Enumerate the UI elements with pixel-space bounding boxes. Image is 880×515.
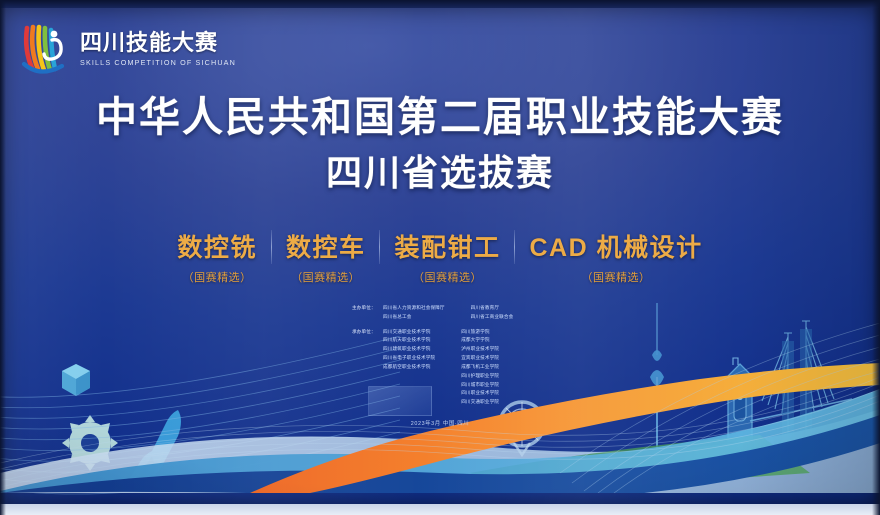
- organizer-org: 成都大学学院: [461, 336, 499, 345]
- event-name: 数控车: [286, 228, 366, 264]
- event-item: 数控车 （国赛精选）: [272, 228, 380, 285]
- event-name: CAD 机械设计: [529, 228, 702, 264]
- photo-edge-right: [872, 0, 880, 515]
- brand-name-en: SKILLS COMPETITION OF SICHUAN: [80, 59, 236, 66]
- organizer-org: 四川交通职业学院: [461, 398, 499, 407]
- organizer-org: 四川护理职业学院: [461, 372, 499, 381]
- host-org: 四川省教育厅: [471, 304, 514, 313]
- host-organizations: 主办单位： 四川省人力资源和社会保障厅 四川省总工会 四川省教育厅 四川省工商业…: [352, 304, 582, 322]
- organizer-org: 成都飞机工业学院: [461, 363, 499, 372]
- sichuan-skills-swoosh-logo-icon: [18, 20, 72, 78]
- title-line-2: 四川省选拔赛: [0, 151, 880, 194]
- organizer-org: 四川航天职业技术学院: [383, 336, 435, 345]
- title-line-1: 中华人民共和国第二届职业技能大赛: [0, 94, 880, 141]
- event-note: （国赛精选）: [183, 269, 252, 285]
- event-item: 数控铣 （国赛精选）: [163, 228, 271, 285]
- organizer-org: 四川职业技术学院: [461, 389, 499, 398]
- event-name: 装配钳工: [394, 228, 500, 264]
- event-note: （国赛精选）: [413, 269, 482, 285]
- organizer-column-2: 四川旅游学院 成都大学学院 泸州职业技术学院 宜宾职业技术学院 成都飞机工业学院…: [461, 328, 499, 407]
- organizer-org: 宜宾职业技术学院: [461, 354, 499, 363]
- event-note: （国赛精选）: [291, 269, 360, 285]
- host-org: 四川省人力资源和社会保障厅: [383, 304, 445, 313]
- organizer-org: 四川旅游学院: [461, 328, 499, 337]
- event-note: （国赛精选）: [582, 269, 651, 285]
- organizer-org: 四川省电子职业技术学院: [383, 354, 435, 363]
- event-backdrop-board: 四川技能大赛 SKILLS COMPETITION OF SICHUAN 中华人…: [0, 6, 880, 504]
- host-label: 主办单位：: [352, 304, 383, 322]
- banner-title: 中华人民共和国第二届职业技能大赛 四川省选拔赛: [0, 94, 880, 194]
- host-column-2: 四川省教育厅 四川省工商业联合会: [471, 304, 514, 322]
- organizer-org: 四川城市职业学院: [461, 381, 499, 390]
- organizer-org: 成都航空职业技术学院: [383, 363, 435, 372]
- photo-edge-top: [0, 0, 880, 8]
- organizer-org: 四川建筑职业技术学院: [383, 345, 435, 354]
- organizer-org: 泸州职业技术学院: [461, 345, 499, 354]
- host-org: 四川省总工会: [383, 313, 445, 322]
- brand-name-cn: 四川技能大赛: [80, 32, 236, 54]
- event-list: 数控铣 （国赛精选） 数控车 （国赛精选） 装配钳工 （国赛精选） CAD 机械…: [0, 228, 880, 285]
- date-location-footer: 2023年3月 中国·四川: [0, 419, 880, 427]
- blank-placard: [368, 386, 432, 416]
- screenshot-root: 四川技能大赛 SKILLS COMPETITION OF SICHUAN 中华人…: [0, 0, 880, 515]
- event-name: 数控铣: [177, 228, 257, 264]
- organizer-org: 四川交通职业技术学院: [383, 328, 435, 337]
- photo-edge-bottom: [0, 504, 880, 515]
- host-column-1: 四川省人力资源和社会保障厅 四川省总工会: [383, 304, 445, 322]
- event-item: 装配钳工 （国赛精选）: [380, 228, 514, 285]
- event-item: CAD 机械设计 （国赛精选）: [515, 228, 716, 285]
- photo-edge-left: [0, 0, 6, 515]
- host-org: 四川省工商业联合会: [471, 313, 514, 322]
- brand-logo: 四川技能大赛 SKILLS COMPETITION OF SICHUAN: [18, 20, 236, 78]
